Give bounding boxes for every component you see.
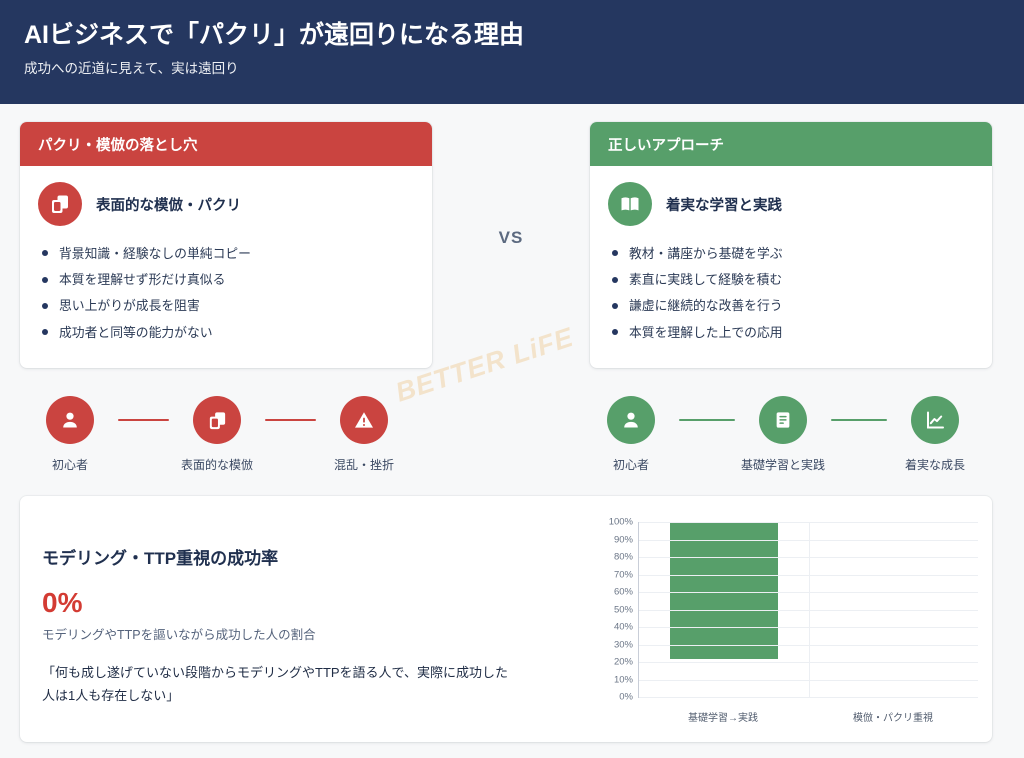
pitfall-topic-label: 表面的な模倣・パクリ xyxy=(96,194,241,215)
chart-gridline xyxy=(639,697,978,698)
correct-approach-topic: 着実な学習と実践 xyxy=(608,182,974,226)
chart-x-tick-label: 基礎学習→実践 xyxy=(638,709,808,724)
flow-node-imitation: 表面的な模倣 xyxy=(169,396,265,472)
flow-node-label: 表面的な模倣 xyxy=(181,458,253,472)
chart-y-tick-label: 80% xyxy=(614,552,633,563)
flow-node-beginner-bad: 初心者 xyxy=(22,396,118,472)
list-item-label: 素直に実践して経験を積む xyxy=(629,272,782,287)
list-item-label: 教材・講座から基礎を学ぶ xyxy=(629,246,783,261)
list-item-label: 成功者と同等の能力がない xyxy=(59,325,213,340)
bullet-dot-icon xyxy=(612,303,618,309)
vs-label: VS xyxy=(440,228,582,248)
success-rate-bar-chart: 100%90%80%70%60%50%40%30%20%10%0% 基礎学習→実… xyxy=(596,518,986,728)
chart-y-tick-label: 90% xyxy=(614,534,633,545)
chart-gridline xyxy=(639,645,978,646)
correct-approach-card-header: 正しいアプローチ xyxy=(590,122,992,166)
list-item: 本質を理解した上での応用 xyxy=(608,319,974,345)
chart-gridline xyxy=(639,575,978,576)
pitfall-card: パクリ・模倣の落とし穴 表面的な模倣・パクリ 背景知識・経験なしの単純コピー 本… xyxy=(20,122,432,368)
bullet-dot-icon xyxy=(612,250,618,256)
chart-line-icon xyxy=(911,396,959,444)
page-subtitle: 成功への近道に見えて、実は遠回り xyxy=(24,60,1000,78)
success-rate-quote: 「何も成し遂げていない段階からモデリングやTTPを語る人で、実際に成功した人は1… xyxy=(42,662,512,708)
chart-bar xyxy=(670,522,778,659)
chart-x-tick-label: 模倣・パクリ重視 xyxy=(808,709,978,724)
list-item-label: 本質を理解した上での応用 xyxy=(629,325,783,340)
copy-icon xyxy=(193,396,241,444)
list-item-label: 思い上がりが成長を阻害 xyxy=(59,298,200,313)
correct-approach-card-body: 着実な学習と実践 教材・講座から基礎を学ぶ 素直に実践して経験を積む 謙虚に継続… xyxy=(590,166,992,355)
chart-container: 100%90%80%70%60%50%40%30%20%10%0% 基礎学習→実… xyxy=(580,496,992,742)
flow-node-steady-growth: 着実な成長 xyxy=(887,396,983,472)
user-icon xyxy=(46,396,94,444)
flow-connector xyxy=(265,396,316,420)
correct-approach-flow: 初心者 基礎学習と実践 着実な成長 xyxy=(583,396,983,472)
chart-y-tick-label: 30% xyxy=(614,639,633,650)
list-item: 背景知識・経験なしの単純コピー xyxy=(38,240,414,266)
warning-icon xyxy=(340,396,388,444)
chart-gridline xyxy=(639,557,978,558)
list-item: 教材・講座から基礎を学ぶ xyxy=(608,240,974,266)
list-item-label: 本質を理解せず形だけ真似る xyxy=(59,272,225,287)
flow-node-label: 初心者 xyxy=(52,458,88,472)
pitfall-flow: 初心者 表面的な模倣 混乱・挫折 xyxy=(22,396,412,472)
flow-node-label: 基礎学習と実践 xyxy=(741,458,825,472)
flow-node-label: 初心者 xyxy=(613,458,649,472)
chart-y-tick-label: 70% xyxy=(614,569,633,580)
chart-gridline xyxy=(639,522,978,523)
chart-gridline xyxy=(639,592,978,593)
flow-node-label: 着実な成長 xyxy=(905,458,965,472)
flow-node-beginner-good: 初心者 xyxy=(583,396,679,472)
list-item: 素直に実践して経験を積む xyxy=(608,266,974,292)
flow-node-foundation-study: 基礎学習と実践 xyxy=(735,396,831,472)
book-icon xyxy=(608,182,652,226)
chart-y-tick-label: 50% xyxy=(614,604,633,615)
flow-connector xyxy=(679,396,735,420)
bullet-dot-icon xyxy=(612,277,618,283)
success-rate-panel: モデリング・TTP重視の成功率 0% モデリングやTTPを謳いながら成功した人の… xyxy=(20,496,992,742)
correct-approach-topic-label: 着実な学習と実践 xyxy=(666,194,782,215)
copy-icon xyxy=(38,182,82,226)
panel-title: モデリング・TTP重視の成功率 xyxy=(42,544,554,569)
bullet-dot-icon xyxy=(42,303,48,309)
chart-y-tick-label: 20% xyxy=(614,657,633,668)
success-rate-value: 0% xyxy=(42,589,554,617)
infographic-page: AIビジネスで「パクリ」が遠回りになる理由 成功への近道に見えて、実は遠回り B… xyxy=(0,0,1024,758)
success-rate-text-block: モデリング・TTP重視の成功率 0% モデリングやTTPを謳いながら成功した人の… xyxy=(20,496,580,742)
chart-y-tick-label: 60% xyxy=(614,587,633,598)
chart-gridline xyxy=(639,662,978,663)
flow-connector xyxy=(118,396,169,420)
chart-gridline xyxy=(639,627,978,628)
chart-gridline xyxy=(639,680,978,681)
bullet-dot-icon xyxy=(612,329,618,335)
bullet-dot-icon xyxy=(42,329,48,335)
chart-gridline xyxy=(639,540,978,541)
page-header: AIビジネスで「パクリ」が遠回りになる理由 成功への近道に見えて、実は遠回り xyxy=(0,0,1024,104)
correct-approach-bullet-list: 教材・講座から基礎を学ぶ 素直に実践して経験を積む 謙虚に継続的な改善を行う 本… xyxy=(608,240,974,345)
success-rate-caption: モデリングやTTPを謳いながら成功した人の割合 xyxy=(42,624,554,643)
flow-connector xyxy=(831,396,887,420)
flow-node-label: 混乱・挫折 xyxy=(334,458,394,472)
pitfall-bullet-list: 背景知識・経験なしの単純コピー 本質を理解せず形だけ真似る 思い上がりが成長を阻… xyxy=(38,240,414,345)
pitfall-topic: 表面的な模倣・パクリ xyxy=(38,182,414,226)
list-item: 謙虚に継続的な改善を行う xyxy=(608,293,974,319)
list-item-label: 謙虚に継続的な改善を行う xyxy=(629,298,783,313)
pitfall-card-body: 表面的な模倣・パクリ 背景知識・経験なしの単純コピー 本質を理解せず形だけ真似る… xyxy=(20,166,432,355)
list-item: 成功者と同等の能力がない xyxy=(38,319,414,345)
list-item-label: 背景知識・経験なしの単純コピー xyxy=(59,246,251,261)
chart-x-axis-labels: 基礎学習→実践模倣・パクリ重視 xyxy=(638,709,978,724)
correct-approach-card: 正しいアプローチ 着実な学習と実践 教材・講座から基礎を学ぶ 素直に実践して経験… xyxy=(590,122,992,368)
chart-y-tick-label: 100% xyxy=(609,517,633,528)
chart-plot-area: 100%90%80%70%60%50%40%30%20%10%0% xyxy=(638,522,978,698)
list-item: 本質を理解せず形だけ真似る xyxy=(38,266,414,292)
bullet-dot-icon xyxy=(42,277,48,283)
page-title: AIビジネスで「パクリ」が遠回りになる理由 xyxy=(24,20,1000,51)
pitfall-card-header: パクリ・模倣の落とし穴 xyxy=(20,122,432,166)
document-icon xyxy=(759,396,807,444)
flow-node-confusion: 混乱・挫折 xyxy=(316,396,412,472)
bullet-dot-icon xyxy=(42,250,48,256)
list-item: 思い上がりが成長を阻害 xyxy=(38,293,414,319)
user-icon xyxy=(607,396,655,444)
chart-y-tick-label: 40% xyxy=(614,622,633,633)
chart-y-tick-label: 0% xyxy=(619,692,633,703)
chart-y-tick-label: 10% xyxy=(614,674,633,685)
chart-gridline xyxy=(639,610,978,611)
